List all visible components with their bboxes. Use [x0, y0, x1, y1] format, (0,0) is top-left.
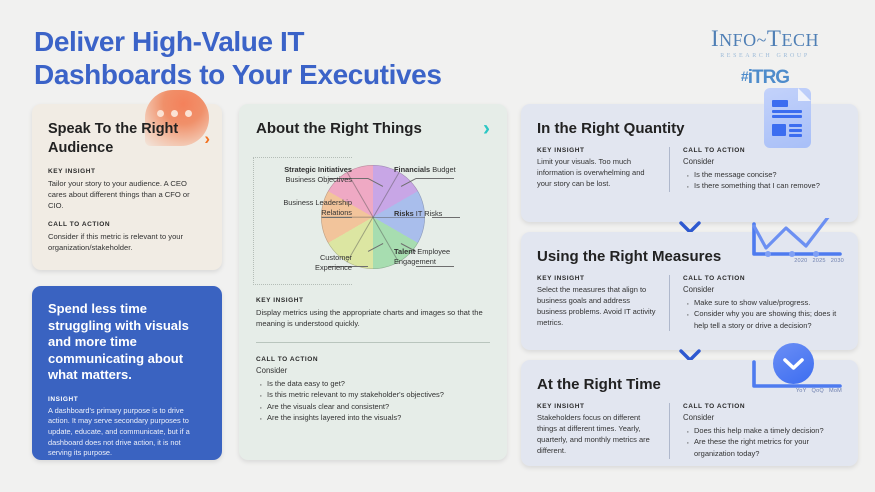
infographic-page: Deliver High-Value IT Dashboards to Your… — [0, 0, 875, 492]
insight-text: A dashboard's primary purpose is to driv… — [48, 406, 206, 460]
cta-list: Is the message concise? Is there somethi… — [683, 169, 842, 192]
call-to-action-text: Consider if this metric is relevant to y… — [48, 231, 206, 253]
pie-label-title: Talent — [394, 247, 415, 256]
key-insight-label: KEY INSIGHT — [256, 297, 490, 304]
list-item: Make sure to show value/progress. — [694, 297, 842, 308]
pie-chart-diagram: Strategic Initiatives Business Objective… — [256, 161, 490, 281]
pie-label-business-leadership-relations: Business Leadership Relations — [256, 198, 352, 218]
pie-label-line: Business — [283, 198, 313, 207]
call-to-action-label: CALL TO ACTION — [256, 356, 490, 363]
card-in-the-right-quantity[interactable]: In the Right Quantity KEY INSIGHT Limit … — [521, 104, 858, 222]
card-about-right-things[interactable]: About the Right Things › — [239, 104, 507, 460]
list-item: Are the insights layered into the visual… — [267, 412, 490, 423]
pie-label-talent: Talent Employee Engagement — [394, 247, 490, 267]
document-icon — [764, 88, 811, 148]
chevron-right-icon[interactable]: › — [204, 130, 210, 147]
list-item: Are these the right metrics for your org… — [694, 436, 842, 459]
consider-text: Consider — [256, 366, 490, 375]
call-to-action-label: CALL TO ACTION — [683, 275, 842, 282]
key-insight-text: Select the measures that align to busine… — [537, 285, 659, 329]
pie-label-title: Financials — [394, 165, 430, 174]
quote-text: Spend less time struggling with visuals … — [48, 301, 206, 384]
consider-text: Consider — [683, 157, 842, 166]
check-circle-icon — [773, 343, 814, 384]
brand-logo: INFO~TECH RESEARCH GROUP #iTRG — [685, 26, 845, 89]
divider — [256, 342, 490, 343]
card-speak-to-right-audience[interactable]: › Speak To the Right Audience KEY INSIGH… — [32, 104, 222, 270]
logo-itrg-text: iTRG — [748, 67, 789, 88]
card-title: About the Right Things — [256, 119, 422, 138]
call-to-action-label: CALL TO ACTION — [683, 403, 842, 410]
list-item: Consider why you are showing this; does … — [694, 308, 842, 331]
key-insight-text: Stakeholders focus on different things a… — [537, 413, 659, 457]
pie-label-sub: Budget — [432, 165, 455, 174]
cta-list: Is the data easy to get? Is this metric … — [256, 378, 490, 423]
cta-list: Make sure to show value/progress. Consid… — [683, 297, 842, 331]
card-using-the-right-measures[interactable]: 2020 2025 2030 Using the Right Measures … — [521, 232, 858, 350]
pie-label-title: Strategic Initiatives — [284, 165, 352, 174]
card-title: Speak To the Right Audience — [48, 120, 206, 157]
key-insight-label: KEY INSIGHT — [48, 168, 206, 175]
key-insight-text: Limit your visuals. Too much information… — [537, 157, 659, 190]
logo-ech: ECH — [781, 30, 819, 50]
pie-label-title: Risks — [394, 209, 414, 218]
pie-label-strategic-initiatives: Strategic Initiatives Business Objective… — [256, 165, 352, 185]
leader-line — [416, 178, 454, 179]
card-at-the-right-time[interactable]: YoY QoQ MoM At the Right Time KEY INSIGH… — [521, 360, 858, 466]
logo-nfo: NFO~ — [719, 30, 767, 50]
hash-icon: # — [741, 68, 748, 84]
page-title: Deliver High-Value IT Dashboards to Your… — [34, 25, 554, 91]
logo-i: I — [711, 26, 719, 51]
chevron-right-icon[interactable]: › — [483, 118, 490, 139]
consider-text: Consider — [683, 413, 842, 422]
key-insight-text: Display metrics using the appropriate ch… — [256, 307, 490, 329]
call-to-action-label: CALL TO ACTION — [683, 147, 842, 154]
pie-label-financials: Financials Budget — [394, 165, 490, 175]
key-insight-label: KEY INSIGHT — [537, 275, 659, 282]
logo-tagline: RESEARCH GROUP — [685, 53, 845, 59]
pie-label-sub: Leadership Relations — [315, 198, 352, 217]
card-insight-quote[interactable]: Spend less time struggling with visuals … — [32, 286, 222, 460]
list-item: Is there something that I can remove? — [694, 180, 842, 191]
pie-label-risks: Risks IT Risks — [394, 209, 490, 219]
key-insight-label: KEY INSIGHT — [537, 147, 659, 154]
call-to-action-label: CALL TO ACTION — [48, 221, 206, 228]
list-item: Are the visuals clear and consistent? — [267, 401, 490, 412]
pie-label-sub: IT Risks — [416, 209, 443, 218]
insight-label: INSIGHT — [48, 396, 206, 403]
list-item: Is the data easy to get? — [267, 378, 490, 389]
key-insight-text: Tailor your story to your audience. A CE… — [48, 178, 206, 211]
logo-wordmark: INFO~TECH — [685, 26, 845, 52]
list-item: Is this metric relevant to my stakeholde… — [267, 389, 490, 400]
list-item: Does this help make a timely decision? — [694, 425, 842, 436]
page-title-line1: Deliver High-Value IT — [34, 26, 304, 57]
consider-text: Consider — [683, 285, 842, 294]
cta-list: Does this help make a timely decision? A… — [683, 425, 842, 459]
pie-label-sub: Customer Experience — [315, 253, 352, 272]
key-insight-label: KEY INSIGHT — [537, 403, 659, 410]
list-item: Is the message concise? — [694, 169, 842, 180]
check-icon — [773, 343, 814, 384]
pie-label-sub: Business Objectives — [285, 175, 352, 184]
logo-t: T — [767, 26, 782, 51]
pie-label-customer-experience: Customer Experience — [256, 253, 352, 273]
page-title-line2: Dashboards to Your Executives — [34, 58, 554, 91]
logo-itrg: #iTRG — [685, 67, 845, 89]
